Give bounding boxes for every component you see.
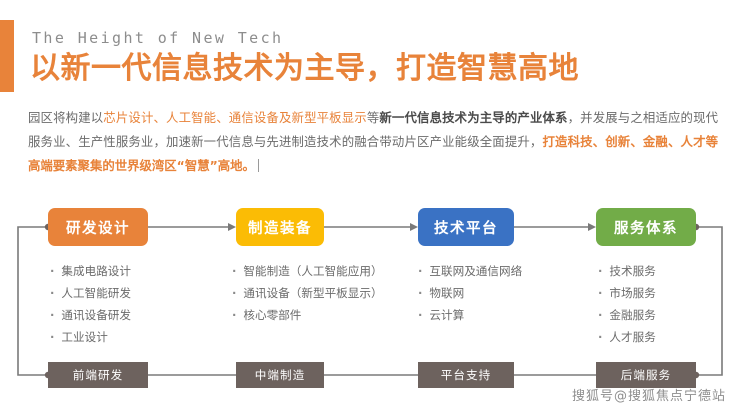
bullet-list-mf: 智能制造（人工智能应用） 通讯设备（新型平板显示） 核心零部件 [232,260,383,326]
list-item: 人工智能研发 [50,282,131,304]
flow-footer-rd[interactable]: 前端研发 [48,362,148,388]
bullet-list-sv: 技术服务 市场服务 金融服务 人才服务 [598,260,656,348]
list-item: 物联网 [418,282,522,304]
page-title: 以新一代信息技术为主导，打造智慧高地 [30,48,579,90]
flow-node-rd[interactable]: 研发设计 [48,208,148,246]
list-item: 工业设计 [50,326,131,348]
body-paragraph: 园区将构建以芯片设计、人工智能、通信设备及新型平板显示等新一代信息技术为主导的产… [28,106,718,178]
accent-bar [0,20,14,92]
para-seg-2-highlight: 芯片设计、人工智能、通信设备及新型平板显示 [103,110,367,125]
list-item: 金融服务 [598,304,656,326]
flow-footer-tp[interactable]: 平台支持 [418,362,514,388]
text-caret [258,159,259,172]
list-item: 通讯设备（新型平板显示） [232,282,383,304]
flow-node-tp[interactable]: 技术平台 [418,208,514,246]
para-seg-1: 园区将构建以 [28,110,103,125]
flow-footer-mf[interactable]: 中端制造 [236,362,324,388]
slide-canvas: The Height of New Tech 以新一代信息技术为主导，打造智慧高… [0,0,740,413]
para-seg-4-strong: 新一代信息技术为主导的产业体系 [379,110,567,125]
watermark-text: 搜狐号@搜狐焦点宁德站 [572,385,726,404]
list-item: 互联网及通信网络 [418,260,522,282]
list-item: 通讯设备研发 [50,304,131,326]
para-seg-3: 等 [367,110,380,125]
flow-node-sv[interactable]: 服务体系 [596,208,696,246]
bullet-list-tp: 互联网及通信网络 物联网 云计算 [418,260,522,326]
eyebrow-text: The Height of New Tech [32,29,283,47]
list-item: 人才服务 [598,326,656,348]
list-item: 技术服务 [598,260,656,282]
flow-diagram: 研发设计 制造装备 技术平台 服务体系 集成电路设计 人工智能研发 通讯设备研发… [0,196,740,396]
list-item: 智能制造（人工智能应用） [232,260,383,282]
bullet-list-rd: 集成电路设计 人工智能研发 通讯设备研发 工业设计 [50,260,131,348]
list-item: 云计算 [418,304,522,326]
list-item: 市场服务 [598,282,656,304]
flow-node-mf[interactable]: 制造装备 [236,208,324,246]
list-item: 集成电路设计 [50,260,131,282]
list-item: 核心零部件 [232,304,383,326]
